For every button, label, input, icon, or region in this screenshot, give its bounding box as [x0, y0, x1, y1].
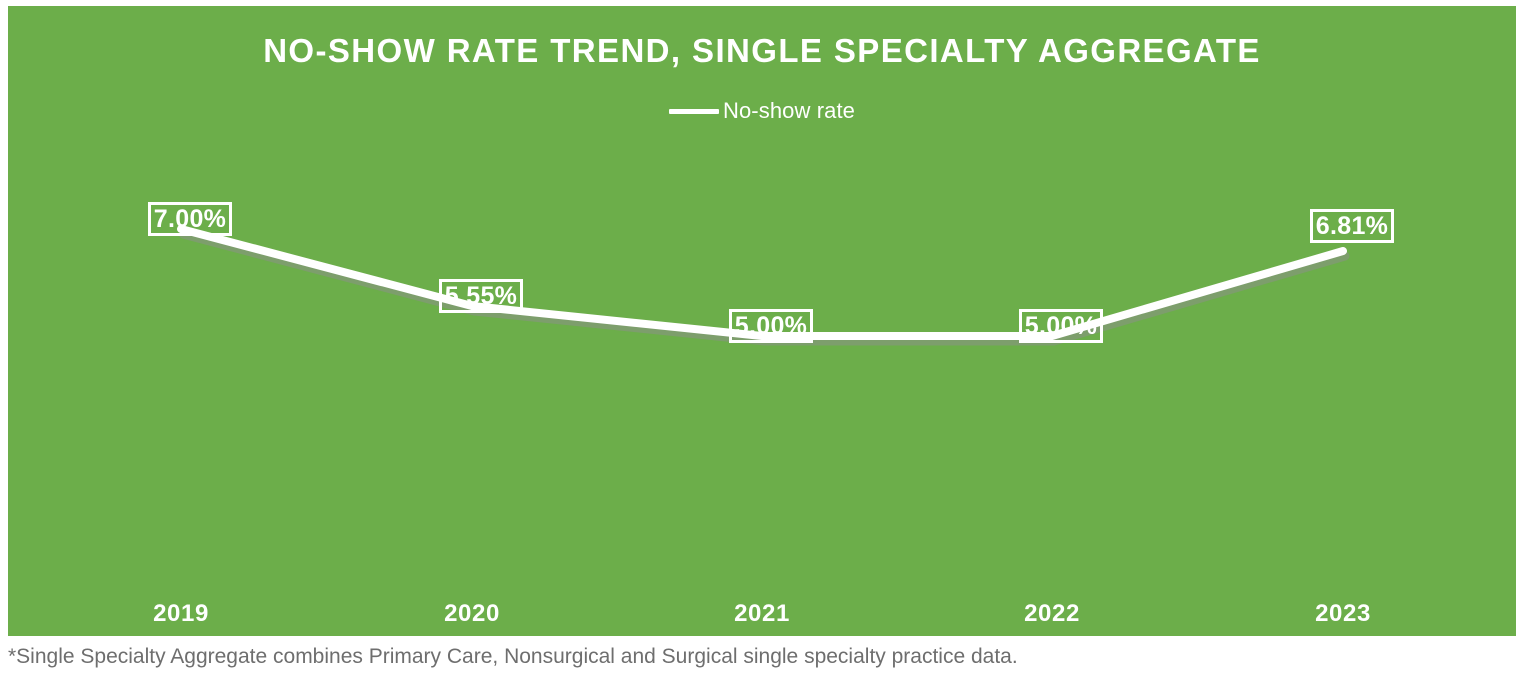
chart-footnote: *Single Specialty Aggregate combines Pri…	[8, 644, 1408, 670]
data-label-2020[interactable]: 5.55%	[439, 279, 523, 313]
chart-figure: NO-SHOW RATE TREND, SINGLE SPECIALTY AGG…	[0, 0, 1524, 675]
data-label-2021[interactable]: 5.00%	[729, 309, 813, 343]
data-label-2023[interactable]: 6.81%	[1310, 209, 1394, 243]
x-tick-2022: 2022	[1024, 600, 1080, 628]
data-label-2022[interactable]: 5.00%	[1019, 309, 1103, 343]
x-tick-2023: 2023	[1315, 600, 1371, 628]
x-tick-2021: 2021	[734, 600, 790, 628]
chart-panel: NO-SHOW RATE TREND, SINGLE SPECIALTY AGG…	[8, 6, 1516, 636]
x-tick-2019: 2019	[153, 600, 209, 628]
data-label-2019[interactable]: 7.00%	[148, 202, 232, 236]
x-tick-2020: 2020	[444, 600, 500, 628]
